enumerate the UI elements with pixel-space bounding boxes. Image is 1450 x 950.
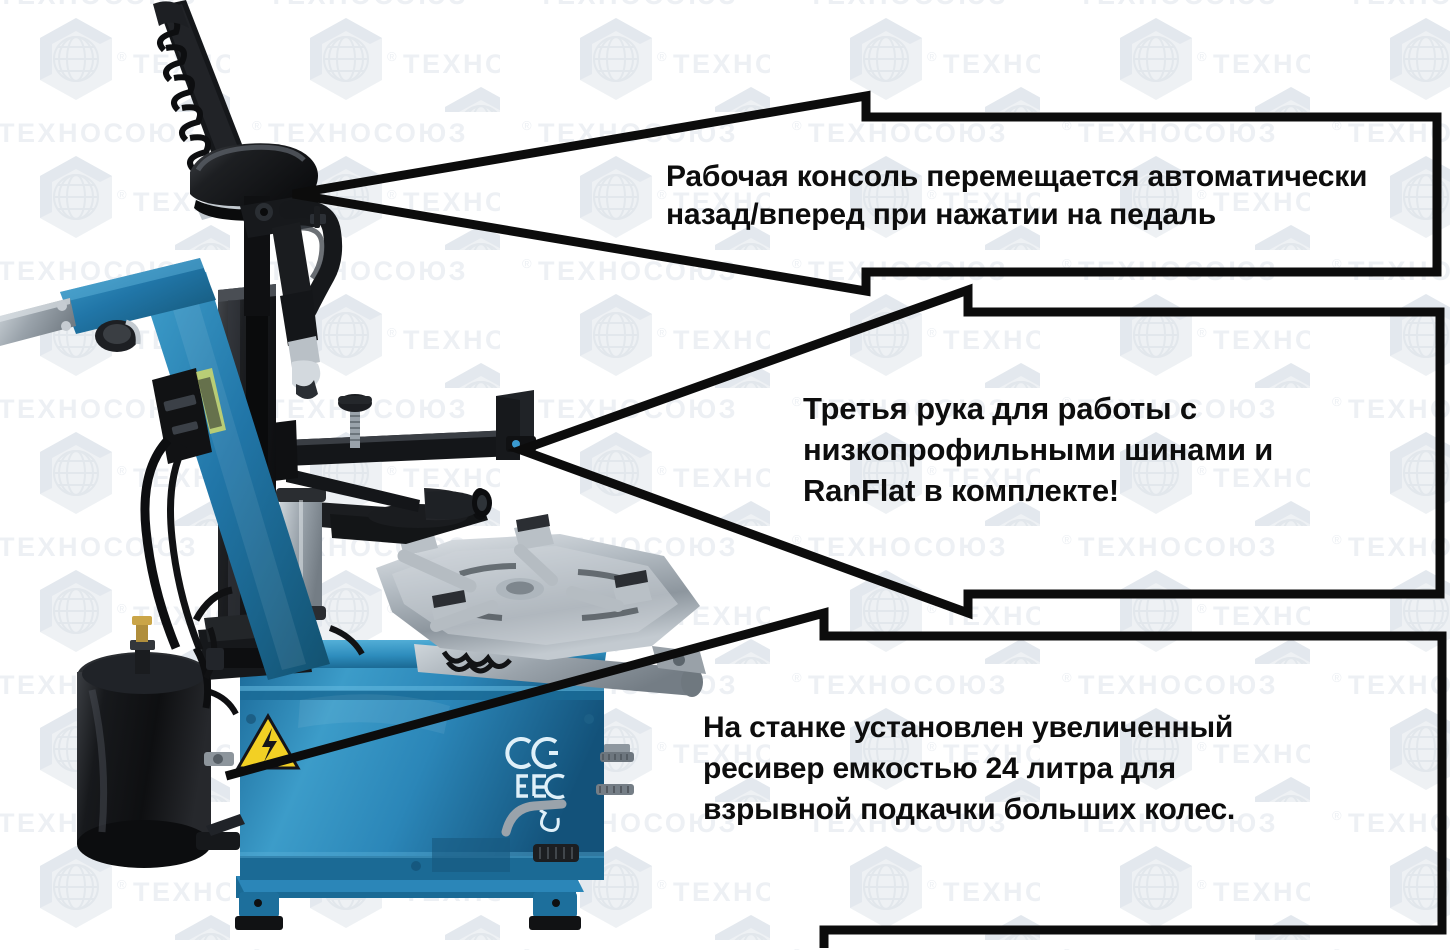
callout-receiver-line-3: взрывной подкачки больших колес. <box>703 790 1353 831</box>
callout-receiver-text: На станке установлен увеличенный ресивер… <box>703 708 1353 830</box>
callout-receiver-line-1: На станке установлен увеличенный <box>703 708 1353 749</box>
callout-third-arm-text: Третья рука для работы с низкопрофильным… <box>803 388 1443 512</box>
callout-third-arm-line-3: RanFlat в комплекте! <box>803 470 1443 511</box>
callout-console-line-2: назад/вперед при нажатии на педаль <box>666 196 1436 234</box>
callout-third-arm-line-2: низкопрофильными шинами и <box>803 429 1443 470</box>
callout-console-line-1: Рабочая консоль перемещается автоматичес… <box>666 158 1436 196</box>
callout-console-text: Рабочая консоль перемещается автоматичес… <box>666 158 1436 235</box>
callout-receiver-line-2: ресивер емкостью 24 литра для <box>703 749 1353 790</box>
callout-third-arm-line-1: Третья рука для работы с <box>803 388 1443 429</box>
screenshot-canvas: ТЕХНОСОЮЗ ® <box>0 0 1450 950</box>
